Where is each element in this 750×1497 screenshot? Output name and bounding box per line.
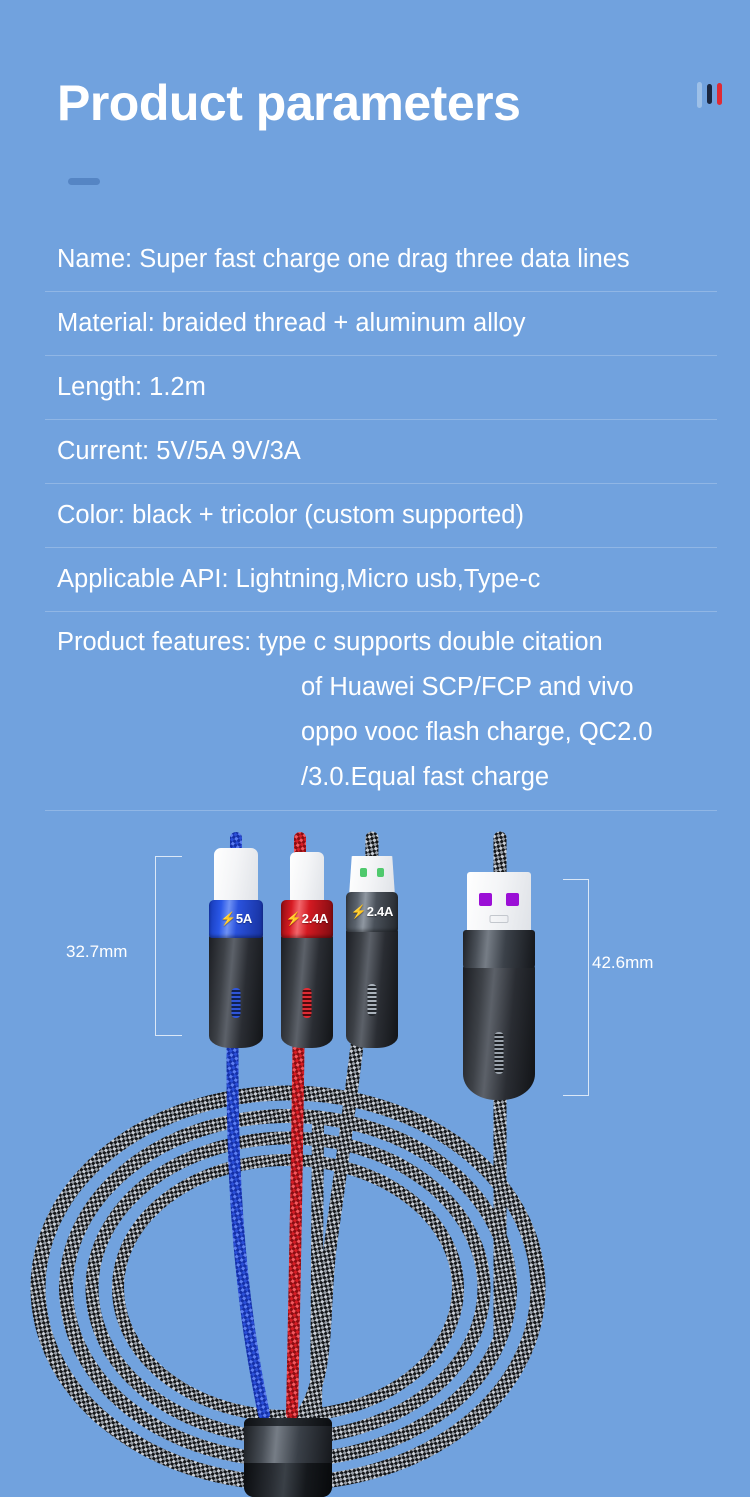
page-title: Product parameters (57, 78, 520, 128)
feature-line-2: of Huawei SCP/FCP and vivo (57, 665, 717, 710)
usb-a-collar (463, 930, 535, 968)
lightning-amp-label: ⚡2.4A (286, 911, 328, 927)
spec-text-applicable-api: Applicable API: Lightning,Micro usb,Type… (57, 548, 717, 611)
spec-row-product-features: Product features: type c supports double… (45, 612, 717, 811)
junction-cap (244, 1418, 332, 1426)
title-underline-accent (68, 178, 100, 185)
micro-usb-amp-label: ⚡2.4A (351, 904, 393, 920)
micro-usb-pin-left-icon (360, 868, 367, 877)
lightning-grip-icon (303, 988, 312, 1018)
lightning-head-icon (290, 852, 324, 904)
dimension-bracket-right (563, 879, 589, 1096)
spec-row-color: Color: black + tricolor (custom supporte… (45, 484, 717, 548)
spec-row-name: Name: Super fast charge one drag three d… (45, 228, 717, 292)
micro-usb-collar: ⚡2.4A (346, 892, 398, 932)
spec-text-length: Length: 1.2m (57, 356, 717, 419)
junction-lower-body (244, 1463, 332, 1497)
spec-text-name: Name: Super fast charge one drag three d… (57, 228, 717, 291)
dimension-label-connector-height: 32.7mm (66, 942, 127, 962)
usb-a-slot-icon (490, 915, 509, 923)
type-c-grip-icon (232, 988, 241, 1018)
spec-row-length: Length: 1.2m (45, 356, 717, 420)
corner-mark-decoration (697, 82, 722, 110)
usb-a-contact-left-icon (479, 893, 492, 906)
type-c-amp-label: ⚡5A (220, 911, 252, 927)
type-c-collar: ⚡5A (209, 900, 263, 938)
connector-micro-usb: ⚡2.4A (334, 856, 410, 1048)
dimension-bracket-left (155, 856, 182, 1036)
spec-row-current: Current: 5V/5A 9V/3A (45, 420, 717, 484)
feature-line-4: /3.0.Equal fast charge (57, 755, 717, 800)
corner-bar-navy-icon (707, 84, 712, 104)
connector-type-c: ⚡5A (196, 848, 276, 1048)
product-parameters-page: Product parameters Name: Super fast char… (0, 0, 750, 1497)
lightning-collar: ⚡2.4A (281, 900, 333, 938)
feature-line-3: oppo vooc flash charge, QC2.0 (57, 710, 717, 755)
usb-a-contact-right-icon (506, 893, 519, 906)
spec-text-product-features: Product features: type c supports double… (57, 612, 717, 810)
cable-strand-black-junction (316, 1118, 318, 1414)
usb-a-grip-icon (495, 1032, 504, 1074)
spec-list: Name: Super fast charge one drag three d… (45, 228, 717, 811)
micro-usb-grip-icon (368, 984, 377, 1016)
type-c-head-icon (214, 848, 258, 903)
spec-text-material: Material: braided thread + aluminum allo… (57, 292, 717, 355)
corner-bar-blue-icon (697, 82, 702, 108)
micro-usb-head-icon (349, 856, 395, 896)
feature-line-1: Product features: type c supports double… (57, 620, 717, 665)
usb-a-head-icon (467, 872, 531, 934)
micro-usb-pin-right-icon (377, 868, 384, 877)
dimension-label-usb-a-height: 42.6mm (592, 953, 653, 973)
cable-junction-collar (244, 1418, 332, 1497)
spec-row-material: Material: braided thread + aluminum allo… (45, 292, 717, 356)
connector-usb-a (444, 872, 554, 1100)
spec-text-current: Current: 5V/5A 9V/3A (57, 420, 717, 483)
spec-row-applicable-api: Applicable API: Lightning,Micro usb,Type… (45, 548, 717, 612)
corner-bar-red-icon (717, 83, 722, 105)
spec-text-color: Color: black + tricolor (custom supporte… (57, 484, 717, 547)
